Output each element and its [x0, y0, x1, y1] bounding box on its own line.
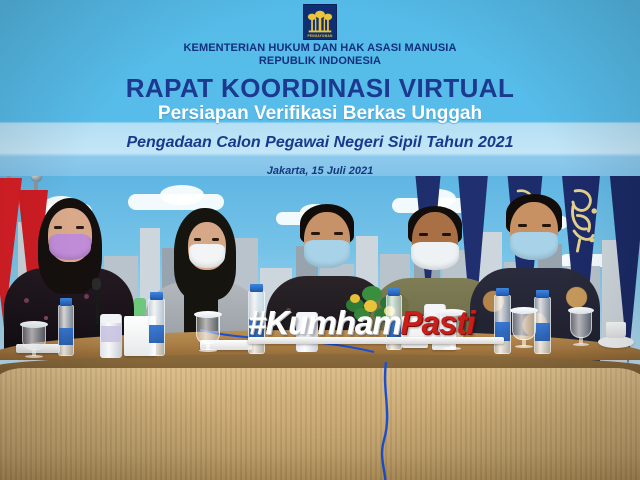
logo-caption: PENGAYOMAN [304, 34, 336, 38]
water-bottle [58, 298, 74, 356]
bottle-cap [536, 290, 549, 298]
glass-lid [510, 307, 538, 314]
drinking-glass [22, 324, 46, 350]
bottle-cap [60, 298, 72, 306]
pengayoman-emblem-logo: PENGAYOMAN [303, 4, 337, 40]
sign-text: #KumhamPasti [248, 306, 504, 339]
water-bottle [534, 290, 551, 354]
event-program-line: Pengadaan Calon Pegawai Negeri Sipil Tah… [0, 133, 640, 152]
bottle-cap [496, 288, 509, 296]
meeting-room-scene: #KumhamPasti [0, 176, 640, 480]
bottle-label [59, 328, 73, 345]
yellow-flower [350, 294, 360, 303]
face-mask-blue [510, 232, 558, 260]
face-mask-white [411, 242, 459, 270]
face-mask-blue [304, 240, 350, 268]
coffee-cup [606, 322, 626, 338]
bottle-cap [388, 288, 400, 296]
screenshot-stage: PENGAYOMAN KEMENTERIAN HUKUM DAN HAK ASA… [0, 0, 640, 480]
blue-cable [370, 362, 400, 480]
drinking-glass [196, 314, 220, 344]
cloud-icon [160, 185, 204, 205]
ministry-name-line1: KEMENTERIAN HUKUM DAN HAK ASASI MANUSIA [184, 42, 457, 54]
glass-lid [194, 311, 222, 318]
tumbler [100, 314, 122, 358]
ministry-name-line2: REPUBLIK INDONESIA [0, 55, 640, 68]
bottle-label [535, 323, 550, 342]
glass-lid [568, 307, 594, 314]
sign-base [248, 337, 504, 344]
kumham-pasti-sign: #KumhamPasti [248, 304, 504, 344]
event-subtitle: Persiapan Verifikasi Berkas Unggah [0, 103, 640, 125]
drinking-glass [512, 310, 536, 340]
glass-lid [20, 321, 48, 328]
sign-text-white: #Kumham [248, 304, 401, 341]
bottle-label [149, 325, 164, 344]
drinking-glass [570, 310, 592, 338]
event-banner: PENGAYOMAN KEMENTERIAN HUKUM DAN HAK ASA… [0, 0, 640, 196]
event-title: RAPAT KOORDINASI VIRTUAL [0, 74, 640, 102]
face-mask-purple [49, 234, 91, 260]
bottle-cap [250, 284, 263, 292]
bottle-cap [150, 292, 163, 300]
ministry-name: KEMENTERIAN HUKUM DAN HAK ASASI MANUSIA … [0, 42, 640, 68]
sign-text-red: Pasti [401, 304, 475, 341]
water-bottle [148, 292, 165, 356]
face-mask-white [189, 244, 225, 268]
conference-table-front [0, 368, 640, 480]
